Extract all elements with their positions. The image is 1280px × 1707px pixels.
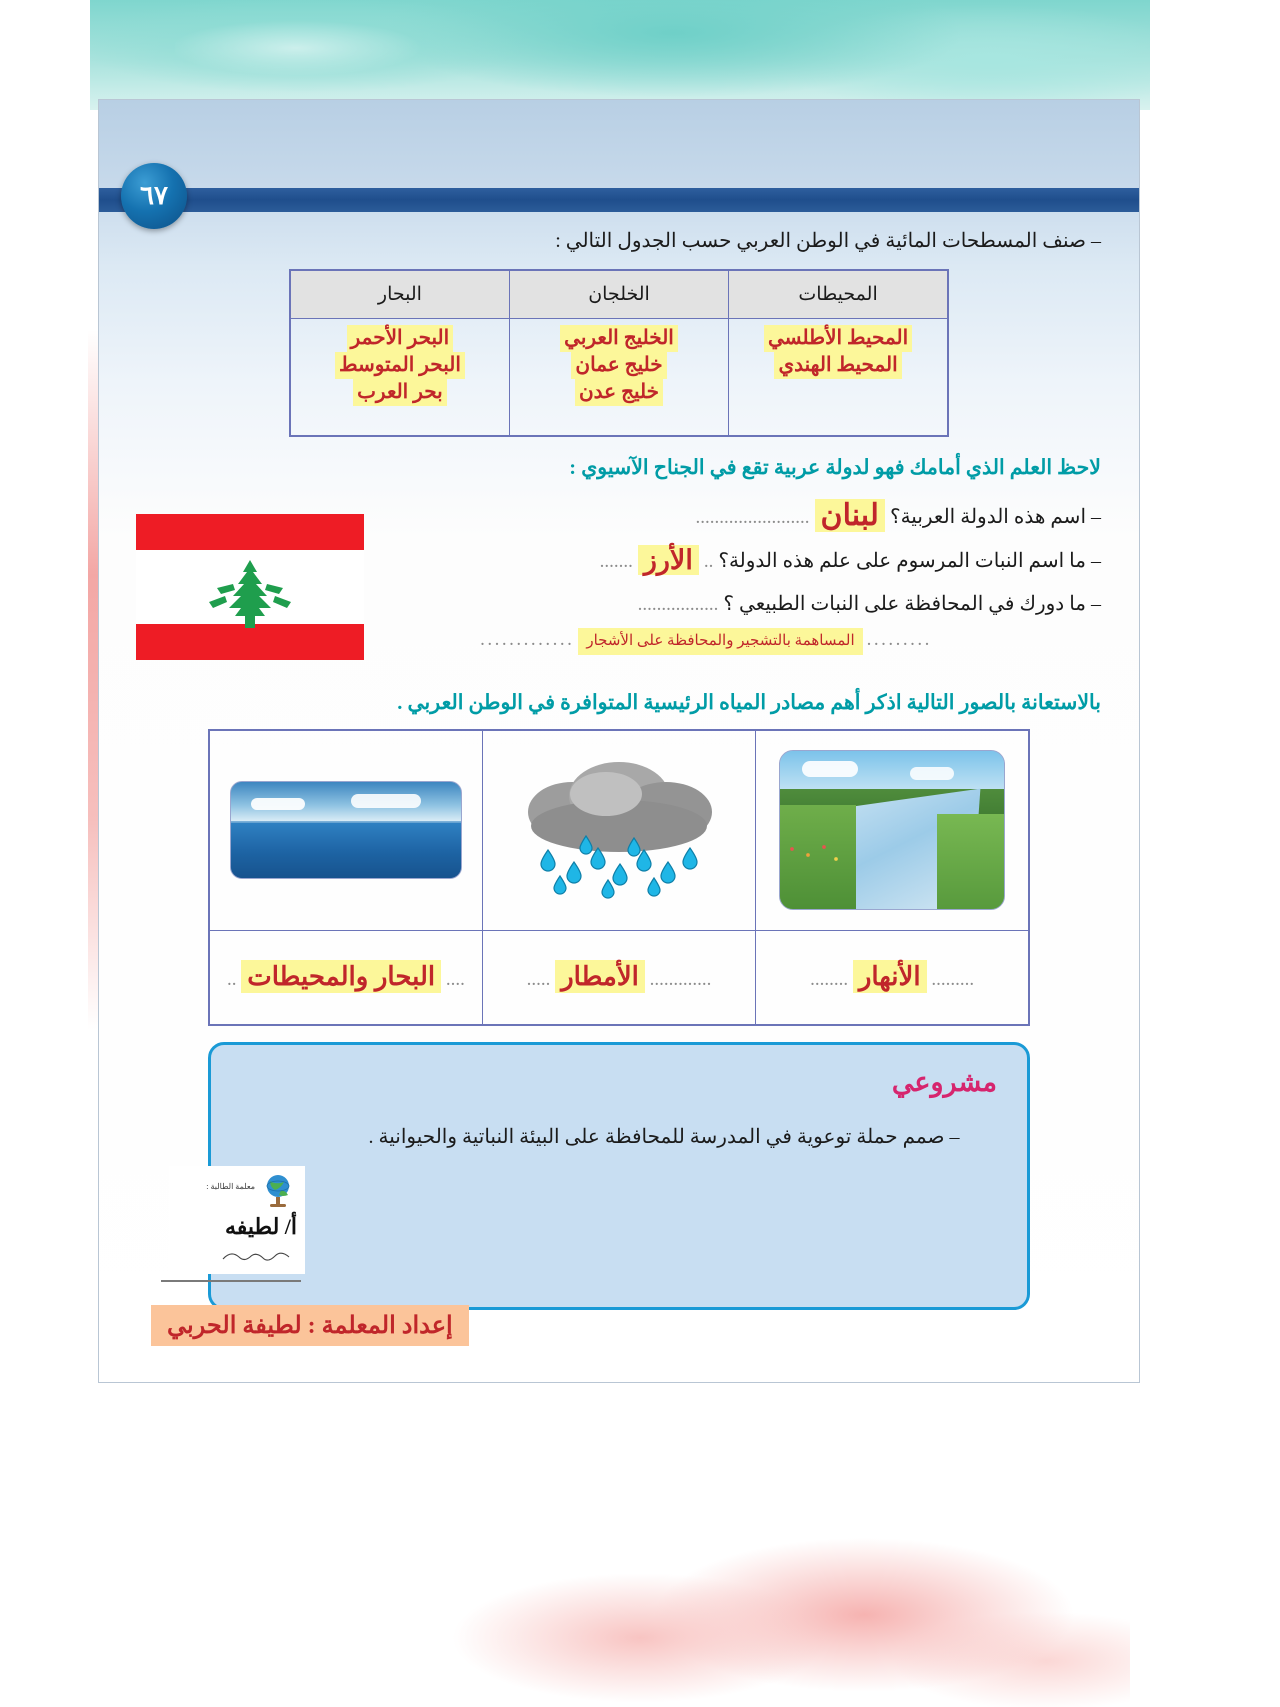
- answer-gulf-3: خليج عدن: [575, 379, 663, 406]
- river-flowers: [786, 843, 846, 869]
- teacher-stamp: معلمة الطالبة : أ/ لطيفه: [169, 1166, 305, 1274]
- sea-dots-right: ....: [446, 969, 465, 990]
- flag-question-3-row[interactable]: ‏– ما دورك في المحافظة على النبات الطبيع…: [381, 582, 1101, 626]
- stamp-teacher-name: أ/ لطيفه: [225, 1214, 297, 1240]
- cell-seas[interactable]: البحر الأحمر البحر المتوسط بحر العرب: [290, 318, 509, 436]
- sea-cloud-1: [251, 798, 305, 810]
- flag-question-3-text: ‏– ما دورك في المحافظة على النبات الطبيع…: [723, 593, 1101, 615]
- water-sources-table: ......... الأنهار ........ .............…: [208, 729, 1030, 1026]
- sources-cell-sea-image: [209, 730, 482, 930]
- worksheet-content: ‏– صنف المسطحات المائية في الوطن العربي …: [99, 212, 1139, 1310]
- header-band: [99, 188, 1139, 212]
- sources-image-row: [209, 730, 1029, 930]
- rain-dots-left: .....: [527, 969, 551, 990]
- answer-ocean-1: المحيط الأطلسي: [764, 325, 912, 352]
- flag-red-band-top: [136, 514, 364, 550]
- cedar-tree-icon: [191, 558, 309, 630]
- flag-answer-3-dots-left: .............: [480, 629, 574, 650]
- table-header-row: المحيطات الخلجان البحار: [290, 270, 948, 318]
- oceans-answer-stack: المحيط الأطلسي المحيط الهندي: [741, 325, 935, 379]
- seas-answer-stack: البحر الأحمر البحر المتوسط بحر العرب: [303, 325, 497, 406]
- flag-section: ‏– اسم هذه الدولة العربية؟ لبنان .......…: [137, 494, 1101, 684]
- background-teal-watercolor: [90, 0, 1150, 110]
- signature-icon: [221, 1248, 291, 1264]
- flag-answer-3-row[interactable]: ......... المساهمة بالتشجير والمحافظة عل…: [381, 628, 1101, 655]
- project-text: ‏– صمم حملة توعوية في المدرسة للمحافظة ع…: [241, 1124, 997, 1149]
- flag-question-2-dots-inner: ..: [704, 551, 714, 572]
- sea-image: [230, 781, 462, 879]
- answer-sea-2: البحر المتوسط: [335, 352, 465, 379]
- river-bank-right: [937, 814, 1004, 910]
- globe-icon: [261, 1172, 295, 1210]
- project-title: مشروعي: [241, 1067, 997, 1098]
- answer-sea-3: بحر العرب: [353, 379, 447, 406]
- river-dots-right: .........: [931, 969, 974, 990]
- sea-label-wrap: .... البحار والمحيطات ..: [227, 969, 465, 990]
- cloud-shape: [528, 762, 712, 852]
- sea-cloud-2: [351, 794, 421, 808]
- table-instruction: ‏– صنف المسطحات المائية في الوطن العربي …: [137, 212, 1101, 253]
- flag-question-1-text: ‏– اسم هذه الدولة العربية؟: [890, 506, 1101, 528]
- flag-answer-1: لبنان: [815, 499, 885, 532]
- sources-cell-sea-label[interactable]: .... البحار والمحيطات ..: [209, 930, 482, 1025]
- rain-dots-right: .............: [650, 969, 712, 990]
- sources-cell-river-label[interactable]: ......... الأنهار ........: [756, 930, 1029, 1025]
- sea-dots-left: ..: [227, 969, 237, 990]
- flag-answer-3: المساهمة بالتشجير والمحافظة على الأشجار: [578, 628, 862, 655]
- stamp-small-text: معلمة الطالبة :: [206, 1182, 255, 1191]
- page-number-badge: ٦٧: [121, 163, 187, 229]
- sources-label-row: ......... الأنهار ........ .............…: [209, 930, 1029, 1025]
- answer-ocean-2: المحيط الهندي: [774, 352, 901, 379]
- river-label-wrap: ......... الأنهار ........: [810, 969, 974, 990]
- cell-gulfs[interactable]: الخليج العربي خليج عمان خليج عدن: [509, 318, 728, 436]
- background-pink-watercolor: [430, 1477, 1130, 1707]
- river-dots-left: ........: [810, 969, 848, 990]
- sources-instruction: بالاستعانة بالصور التالية اذكر أهم مصادر…: [137, 690, 1101, 715]
- flag-question-2-dots: .......: [600, 551, 633, 572]
- flag-question-2-row[interactable]: ‏– ما اسم النبات المرسوم على علم هذه الد…: [381, 538, 1101, 582]
- river-image: [779, 750, 1005, 910]
- rain-cloud-icon: [494, 750, 744, 910]
- sea-water: [231, 823, 461, 879]
- water-bodies-table: المحيطات الخلجان البحار المحيط الأطلسي ا…: [289, 269, 949, 437]
- worksheet-page: ٦٧ ‏– صنف المسطحات المائية في الوطن العر…: [98, 99, 1140, 1383]
- sources-cell-rain-image: [482, 730, 755, 930]
- flag-question-1-dots: ........................: [696, 507, 810, 528]
- flag-instruction: لاحظ العلم الذي أمامك فهو لدولة عربية تق…: [137, 455, 1101, 480]
- flag-question-1-row[interactable]: ‏– اسم هذه الدولة العربية؟ لبنان .......…: [381, 494, 1101, 538]
- answer-sea-1: البحر الأحمر: [347, 325, 454, 352]
- column-header-oceans: المحيطات: [729, 270, 948, 318]
- cell-oceans[interactable]: المحيط الأطلسي المحيط الهندي: [729, 318, 948, 436]
- answer-gulf-2: خليج عمان: [571, 352, 666, 379]
- rain-label-wrap: ............. الأمطار .....: [527, 969, 712, 990]
- project-box[interactable]: مشروعي ‏– صمم حملة توعوية في المدرسة للم…: [208, 1042, 1030, 1310]
- river-cloud-2: [910, 767, 954, 780]
- lebanon-flag-image: [136, 514, 364, 660]
- gulfs-answer-stack: الخليج العربي خليج عمان خليج عدن: [522, 325, 716, 406]
- table-answer-row: المحيط الأطلسي المحيط الهندي الخليج العر…: [290, 318, 948, 436]
- stamp-underline: [161, 1280, 301, 1282]
- flag-questions-block: ‏– اسم هذه الدولة العربية؟ لبنان .......…: [381, 494, 1101, 655]
- column-header-seas: البحار: [290, 270, 509, 318]
- flag-question-3-dots: .................: [638, 594, 719, 615]
- flag-question-2-text: ‏– ما اسم النبات المرسوم على علم هذه الد…: [718, 550, 1101, 572]
- rain-cloud-image: [494, 750, 744, 910]
- column-header-gulfs: الخلجان: [509, 270, 728, 318]
- river-answer: الأنهار: [853, 960, 927, 993]
- footer-teacher-credit: إعداد المعلمة : لطيفة الحربي: [151, 1305, 469, 1346]
- rain-answer: الأمطار: [555, 960, 645, 993]
- flag-answer-2: الأرز: [638, 545, 699, 575]
- sea-answer: البحار والمحيطات: [241, 960, 441, 993]
- sources-cell-rain-label[interactable]: ............. الأمطار .....: [482, 930, 755, 1025]
- flag-answer-3-dots-right: .........: [867, 629, 932, 650]
- river-cloud-1: [802, 761, 858, 777]
- sources-cell-river-image: [756, 730, 1029, 930]
- answer-gulf-1: الخليج العربي: [560, 325, 678, 352]
